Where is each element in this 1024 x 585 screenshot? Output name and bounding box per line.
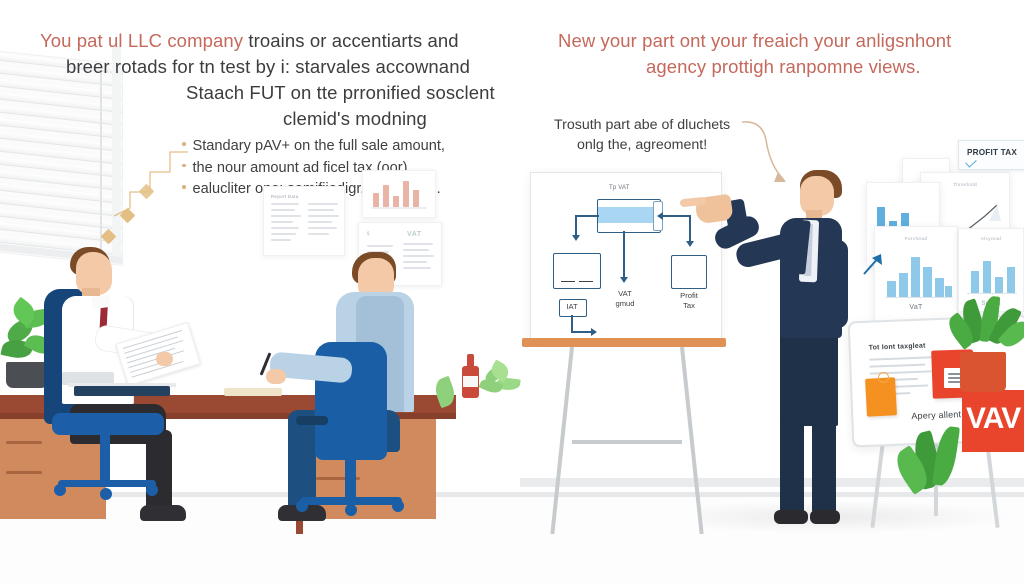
shoe-right (810, 510, 840, 524)
plant-pot-right (960, 352, 1006, 392)
flow-line (575, 215, 577, 237)
leg-left (780, 420, 804, 514)
profit-tax-label: Profit Tax (663, 291, 715, 311)
callout-line-1: Trosuth part abe of dluchets (554, 115, 730, 135)
check-tick-icon (965, 156, 976, 167)
office-chair-post (100, 432, 110, 484)
callout-text: Trosuth part abe of dluchets onlg the, a… (554, 115, 730, 155)
wall-doc-vat-label: VAT (407, 231, 422, 238)
left-headline-lead: You pat ul LLC company (40, 30, 243, 51)
chart-card-bar-front: Forchead VaT (874, 226, 958, 324)
flow-line (689, 215, 691, 243)
flow-line (623, 231, 625, 279)
collar (91, 295, 110, 309)
left-headline-line-1: You pat ul LLC company troains or accent… (40, 28, 459, 54)
vat-gmud-line-2: gmud (616, 299, 635, 308)
flow-line (575, 215, 599, 217)
flow-line (571, 331, 593, 333)
hand (266, 369, 286, 384)
chair-caster (345, 504, 357, 516)
flow-arrow-left-icon (657, 212, 663, 220)
iat-node-label: IAT (559, 302, 585, 312)
profit-tax-line-2: Tax (683, 301, 695, 310)
vav-label: VAV (966, 404, 1020, 434)
profit-tax-sticky-note[interactable]: PROFIT TAX (958, 140, 1024, 170)
left-headline-line-2: breer rotads for tn test by i: starvales… (66, 54, 470, 80)
shoe-left (774, 510, 808, 524)
left-headline-rest: troains or accentiarts and (243, 30, 459, 51)
profit-tax-node (671, 255, 707, 289)
vat-input-node (597, 199, 661, 233)
easel-tray (522, 338, 726, 347)
keyboard (74, 386, 170, 396)
left-headline-line-4: clemid's modning (283, 106, 427, 132)
baseboard-right (520, 478, 1024, 487)
left-headline-line-3: Staach FUT on tte prronified sosclent (186, 80, 495, 106)
chair-caster (392, 500, 404, 512)
profit-tax-label: PROFIT TAX (959, 148, 1024, 157)
chair-caster (100, 488, 112, 500)
vat-gmud-line-1: VAT (618, 289, 632, 298)
flow-arrow-down-icon (686, 241, 694, 247)
office-chair-arm (296, 416, 328, 425)
easel-crossbar (572, 440, 682, 444)
chart-bar-right-title: Alcyonal (959, 237, 1023, 242)
flipchart-title: Tot Iont taxgleat (869, 343, 926, 352)
suit-trousers (780, 330, 838, 426)
profit-tax-line-1: Profit (680, 291, 698, 300)
chair-caster (296, 500, 308, 512)
floor-shadow (700, 500, 1020, 534)
whiteboard-top-label: Tp VAT (609, 185, 630, 191)
left-box-node (553, 253, 601, 289)
office-chair-post (345, 455, 356, 501)
flow-arrow-right-icon (591, 328, 597, 336)
flow-line (659, 215, 691, 217)
chart-bar-front-xlabel: VaT (875, 304, 957, 311)
hand (156, 352, 173, 366)
wall-document-report: Report Data (263, 186, 345, 256)
flow-arrow-down-icon (620, 277, 628, 283)
plant-pot-left (6, 362, 48, 388)
bullet-text: Standary pAV+ on the full sale amount, (193, 138, 445, 154)
chair-caster (146, 484, 158, 496)
orange-tag (865, 377, 897, 417)
growth-arrow-icon (862, 252, 886, 276)
flow-arrow-down-icon (572, 235, 580, 241)
leg-right (812, 420, 836, 514)
tag-hole-icon (878, 372, 889, 383)
wall-document-chart (362, 170, 436, 218)
shoe (140, 505, 186, 521)
list-item: Standary pAV+ on the full sale amount, (182, 136, 445, 158)
callout-line-2: onlg the, agreoment! (554, 135, 730, 155)
blind-cord (100, 72, 102, 252)
right-headline-line-1: New your part ont your freaich your anli… (558, 28, 951, 54)
flipchart-caption: Apery allent (911, 409, 961, 421)
right-headline-line-2: agency prottigh ranpomne views. (646, 54, 921, 80)
vav-banner: VAV (962, 390, 1024, 452)
shin (146, 430, 172, 512)
chair-caster (54, 484, 66, 496)
chart-bar-front-title: Forchead (875, 237, 957, 242)
office-chair-base (58, 480, 156, 487)
illustration-scene: You pat ul LLC company troains or accent… (0, 0, 1024, 585)
vat-gmud-label: VAT gmud (599, 289, 651, 309)
bottle-label (463, 376, 478, 387)
notebook (224, 388, 282, 396)
